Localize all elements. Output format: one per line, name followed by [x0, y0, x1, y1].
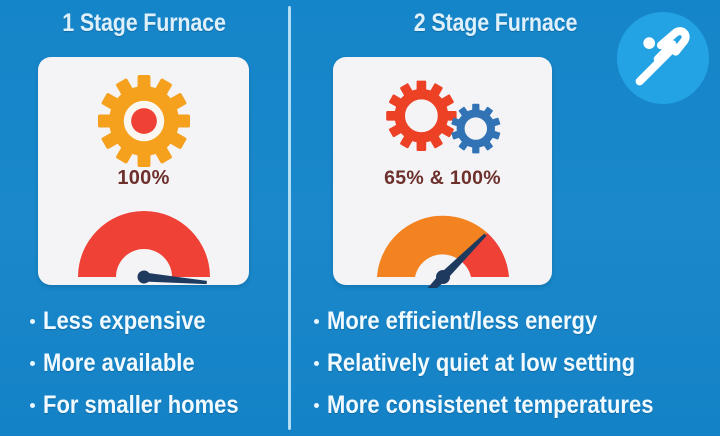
- gauge-segment-full: [78, 211, 210, 277]
- hammer-icon: [629, 24, 697, 92]
- hammer-accent-dot: [643, 37, 655, 49]
- furnace-comparison-infographic: 1 Stage Furnace: [0, 0, 720, 436]
- bullet-text: More efficient/less energy: [327, 300, 597, 342]
- bullet-list-two-stage: More efficient/less energy Relatively qu…: [291, 300, 720, 426]
- list-item: More consistenet temperatures: [314, 384, 720, 426]
- list-item: More efficient/less energy: [314, 300, 720, 342]
- bullet-dot-icon: [30, 361, 35, 366]
- card-one-stage: 100%: [38, 57, 249, 285]
- single-gear-icon: [98, 75, 190, 167]
- card-two-stage: 65% & 100%: [333, 57, 552, 285]
- list-item: Relatively quiet at low setting: [314, 342, 720, 384]
- small-gear-icon: [451, 104, 500, 154]
- panel-title-one-stage: 1 Stage Furnace: [20, 9, 268, 38]
- bullet-text: Less expensive: [43, 300, 206, 342]
- bullet-list-one-stage: Less expensive More available For smalle…: [0, 300, 318, 426]
- list-item: More available: [30, 342, 318, 384]
- bullet-dot-icon: [314, 361, 319, 366]
- bullet-text: For smaller homes: [43, 384, 239, 426]
- list-item: Less expensive: [30, 300, 318, 342]
- bullet-dot-icon: [314, 319, 319, 324]
- large-gear-icon: [386, 81, 456, 151]
- bullet-text: More available: [43, 342, 195, 384]
- bullet-dot-icon: [30, 403, 35, 408]
- icon-area-two-stage: [333, 73, 552, 169]
- bullet-dot-icon: [30, 319, 35, 324]
- panel-one-stage: 1 Stage Furnace: [0, 0, 288, 436]
- bullet-dot-icon: [314, 403, 319, 408]
- bullet-text: More consistenet temperatures: [327, 384, 653, 426]
- hammer-badge-logo: [617, 12, 709, 104]
- gauge-two-stage: [368, 202, 518, 293]
- bullet-text: Relatively quiet at low setting: [327, 342, 635, 384]
- icon-area-one-stage: [38, 73, 249, 169]
- gauge-one-stage: [69, 202, 219, 293]
- percent-label-two-stage: 65% & 100%: [333, 167, 552, 190]
- percent-label-one-stage: 100%: [38, 167, 249, 190]
- list-item: For smaller homes: [30, 384, 318, 426]
- dual-gear-icon: [375, 79, 511, 163]
